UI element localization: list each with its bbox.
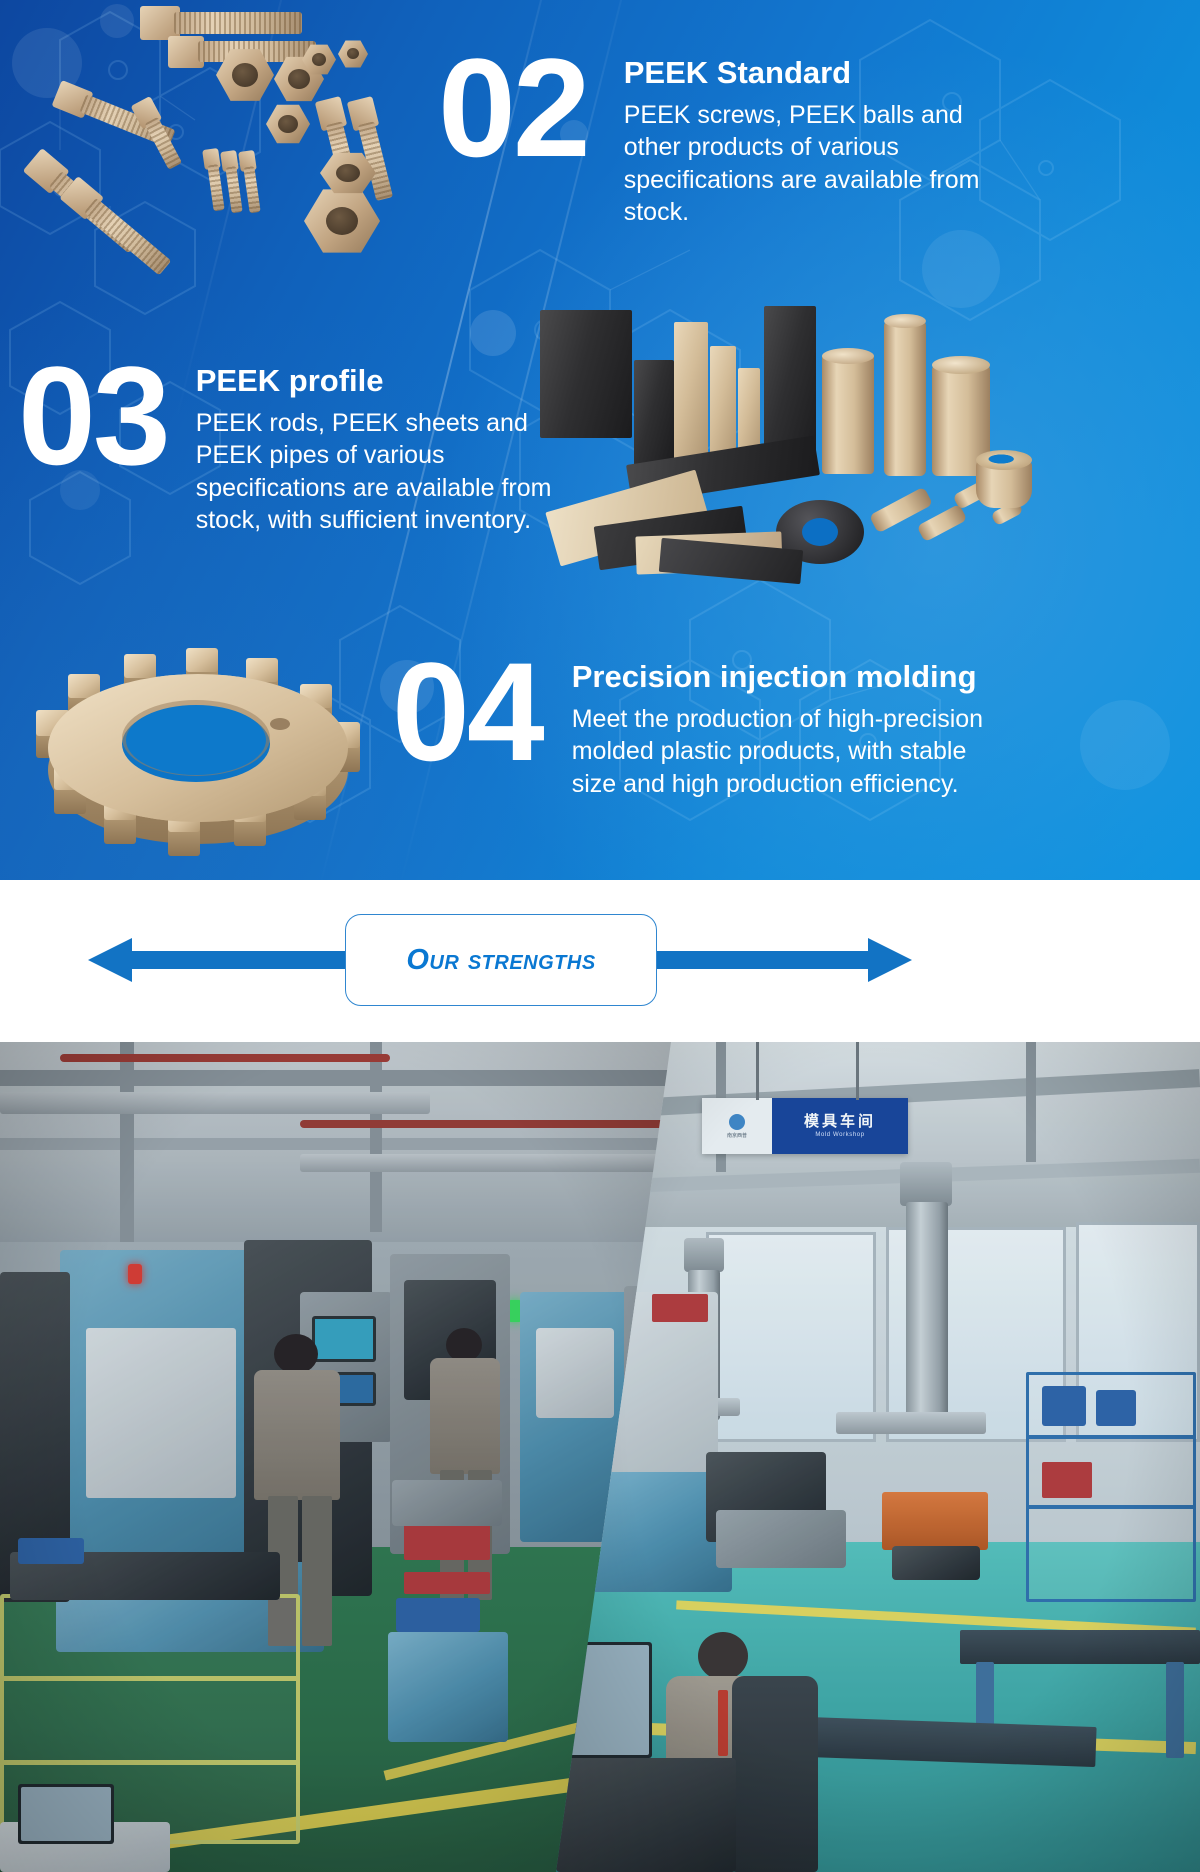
peek-profiles-image xyxy=(540,300,1200,600)
decor-circle xyxy=(1080,700,1170,790)
feature-body: Meet the production of high-precision mo… xyxy=(572,703,1002,801)
feature-body: PEEK rods, PEEK sheets and PEEK pipes of… xyxy=(196,407,576,537)
feature-block-02: 02 PEEK Standard PEEK screws, PEEK balls… xyxy=(438,44,1024,229)
peek-gear-ring-image xyxy=(28,622,368,872)
decor-circle xyxy=(470,310,516,356)
feature-block-04: 04 Precision injection molding Meet the … xyxy=(392,648,1002,800)
feature-number: 04 xyxy=(392,648,542,777)
feature-block-03: 03 PEEK profile PEEK rods, PEEK sheets a… xyxy=(18,352,576,537)
strengths-badge: Our strengths xyxy=(345,914,657,1006)
decor-circle xyxy=(922,230,1000,308)
factory-photo-strip: 南京西普 模具车间 Mold Workshop xyxy=(0,1042,1200,1872)
feature-title: PEEK profile xyxy=(196,364,576,399)
hero-panel: 02 PEEK Standard PEEK screws, PEEK balls… xyxy=(0,0,1200,880)
strengths-label: Our strengths xyxy=(406,944,595,977)
peek-fasteners-image xyxy=(20,0,440,260)
arrow-right-icon xyxy=(868,938,912,982)
feature-number: 02 xyxy=(438,44,588,173)
feature-title: Precision injection molding xyxy=(572,660,1002,695)
feature-title: PEEK Standard xyxy=(624,56,1024,91)
feature-number: 03 xyxy=(18,352,168,481)
arrow-left-icon xyxy=(88,938,132,982)
strengths-divider: Our strengths xyxy=(0,880,1200,1042)
feature-body: PEEK screws, PEEK balls and other produc… xyxy=(624,99,1024,229)
product-promo-page: 02 PEEK Standard PEEK screws, PEEK balls… xyxy=(0,0,1200,1872)
